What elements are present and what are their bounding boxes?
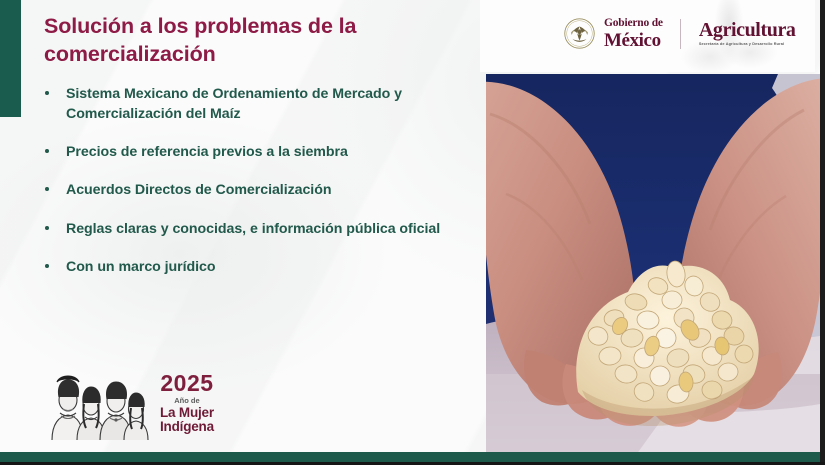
mexico-coat-of-arms-icon bbox=[564, 18, 595, 49]
slide-title-line-2: comercialización bbox=[44, 42, 216, 66]
bullet-dot-icon bbox=[45, 226, 49, 230]
bullet-item-text: Sistema Mexicano de Ordenamiento de Merc… bbox=[66, 86, 402, 122]
bullet-item: Sistema Mexicano de Ordenamiento de Merc… bbox=[38, 84, 474, 124]
year-prefix: Año de bbox=[160, 397, 214, 405]
corn-kernels-photo bbox=[486, 74, 820, 455]
bullet-dot-icon bbox=[45, 264, 49, 268]
agriculture-label: Agricultura bbox=[699, 20, 796, 40]
slide-title-line-1: Solución a los problemas de la bbox=[44, 14, 356, 38]
bullet-item-text: Con un marco jurídico bbox=[66, 259, 216, 275]
corn-photo-illustration bbox=[486, 74, 820, 455]
bullet-item: Precios de referencia previos a la siemb… bbox=[38, 142, 474, 162]
left-accent-bar bbox=[0, 0, 21, 117]
government-logo-inner: Gobierno de México Agricultura Secretarí… bbox=[564, 18, 796, 50]
year-logo-text: 2025 Año de La Mujer Indígena bbox=[160, 372, 214, 434]
mexico-label: México bbox=[604, 31, 663, 50]
year-number: 2025 bbox=[160, 372, 214, 395]
presentation-slide: Solución a los problemas de la comercial… bbox=[0, 0, 825, 465]
bottom-accent-bar bbox=[0, 452, 820, 462]
logo-divider bbox=[680, 19, 681, 49]
bullet-item: Acuerdos Directos de Comercialización bbox=[38, 180, 474, 200]
indigenous-women-illustration-icon bbox=[48, 366, 152, 440]
year-name-line-1: La Mujer bbox=[160, 406, 214, 420]
agriculture-subtitle: Secretaría de Agricultura y Desarrollo R… bbox=[699, 43, 796, 47]
bullet-item-text: Precios de referencia previos a la siemb… bbox=[66, 144, 348, 160]
slide-title: Solución a los problemas de la comercial… bbox=[44, 13, 464, 68]
year-2025-logo: 2025 Año de La Mujer Indígena bbox=[48, 364, 238, 442]
bullet-item-text: Acuerdos Directos de Comercialización bbox=[66, 182, 331, 198]
bullet-list: Sistema Mexicano de Ordenamiento de Merc… bbox=[38, 84, 474, 277]
bullet-item: Reglas claras y conocidas, e información… bbox=[38, 219, 474, 239]
bullet-dot-icon bbox=[45, 149, 49, 153]
bullet-dot-icon bbox=[45, 91, 49, 95]
government-logo-header: Gobierno de México Agricultura Secretarí… bbox=[480, 0, 815, 72]
slide-right-edge bbox=[820, 0, 825, 465]
bullet-item: Con un marco jurídico bbox=[38, 257, 474, 277]
government-wordmark: Gobierno de México bbox=[604, 18, 663, 50]
slide-canvas: Solución a los problemas de la comercial… bbox=[0, 0, 820, 462]
year-name-line-2: Indígena bbox=[160, 420, 214, 434]
agriculture-wordmark: Agricultura Secretaría de Agricultura y … bbox=[699, 20, 796, 47]
bullet-item-text: Reglas claras y conocidas, e información… bbox=[66, 221, 440, 237]
bullet-dot-icon bbox=[45, 187, 49, 191]
gobierno-de-label: Gobierno de bbox=[604, 18, 663, 30]
